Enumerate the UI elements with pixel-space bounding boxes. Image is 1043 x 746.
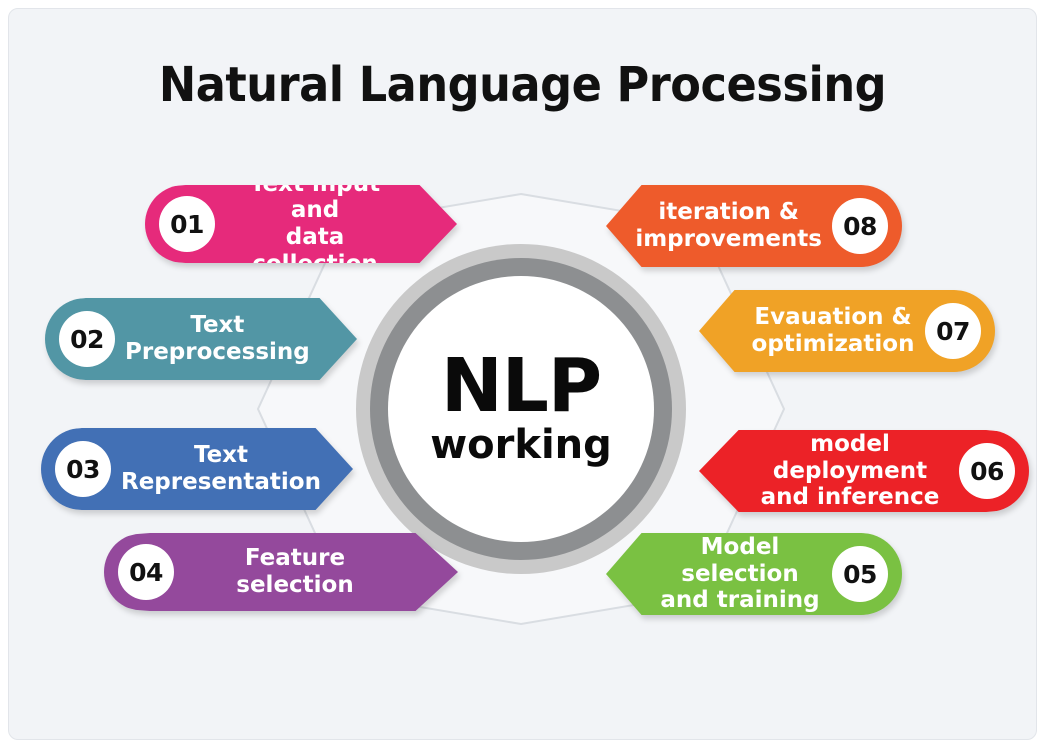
step-label-01: Text input and data collection bbox=[215, 171, 413, 278]
step-number-badge-02: 02 bbox=[59, 311, 115, 367]
step-item-06[interactable]: model deployment and inference 06 bbox=[699, 430, 1029, 512]
step-shape-03: 03 Text Representation bbox=[41, 428, 353, 510]
step-shape-04: 04 Feature selection bbox=[104, 533, 458, 611]
step-shape-01: 01 Text input and data collection bbox=[145, 185, 457, 263]
step-item-01[interactable]: 01 Text input and data collection bbox=[145, 185, 457, 263]
page-title: Natural Language Processing bbox=[45, 57, 1000, 113]
step-label-04: Feature selection bbox=[174, 545, 414, 598]
step-number-badge-04: 04 bbox=[118, 544, 174, 600]
step-item-04[interactable]: 04 Feature selection bbox=[104, 533, 458, 611]
hub-face: NLP working bbox=[388, 276, 654, 542]
step-shape-08: iteration & improvements 08 bbox=[606, 185, 902, 267]
step-number-badge-07: 07 bbox=[925, 303, 981, 359]
step-number-badge-05: 05 bbox=[832, 546, 888, 602]
step-item-07[interactable]: Evauation & optimization 07 bbox=[699, 290, 995, 372]
step-label-03: Text Representation bbox=[111, 442, 329, 495]
step-label-02: Text Preprocessing bbox=[115, 312, 318, 365]
infographic-canvas: Natural Language Processing NLP working … bbox=[8, 8, 1037, 740]
step-shape-05: Model selection and training 05 bbox=[606, 533, 902, 615]
nlp-working-infographic: Natural Language Processing NLP working … bbox=[0, 0, 1043, 746]
step-number-badge-03: 03 bbox=[55, 441, 111, 497]
step-shape-07: Evauation & optimization 07 bbox=[699, 290, 995, 372]
step-number-badge-01: 01 bbox=[159, 196, 215, 252]
step-item-08[interactable]: iteration & improvements 08 bbox=[606, 185, 902, 267]
step-shape-02: 02 Text Preprocessing bbox=[45, 298, 357, 380]
step-label-07: Evauation & optimization bbox=[743, 304, 925, 357]
step-shape-06: model deployment and inference 06 bbox=[699, 430, 1029, 512]
step-item-05[interactable]: Model selection and training 05 bbox=[606, 533, 902, 615]
step-number-badge-06: 06 bbox=[959, 443, 1015, 499]
center-hub: NLP working bbox=[356, 244, 686, 574]
hub-subtitle: working bbox=[430, 423, 612, 467]
step-label-08: iteration & improvements bbox=[627, 199, 832, 252]
step-item-03[interactable]: 03 Text Representation bbox=[41, 428, 353, 510]
step-item-02[interactable]: 02 Text Preprocessing bbox=[45, 298, 357, 380]
step-label-05: Model selection and training bbox=[650, 534, 832, 614]
hub-title: NLP bbox=[441, 351, 601, 421]
step-number-badge-08: 08 bbox=[832, 198, 888, 254]
step-label-06: model deployment and inference bbox=[743, 431, 959, 511]
